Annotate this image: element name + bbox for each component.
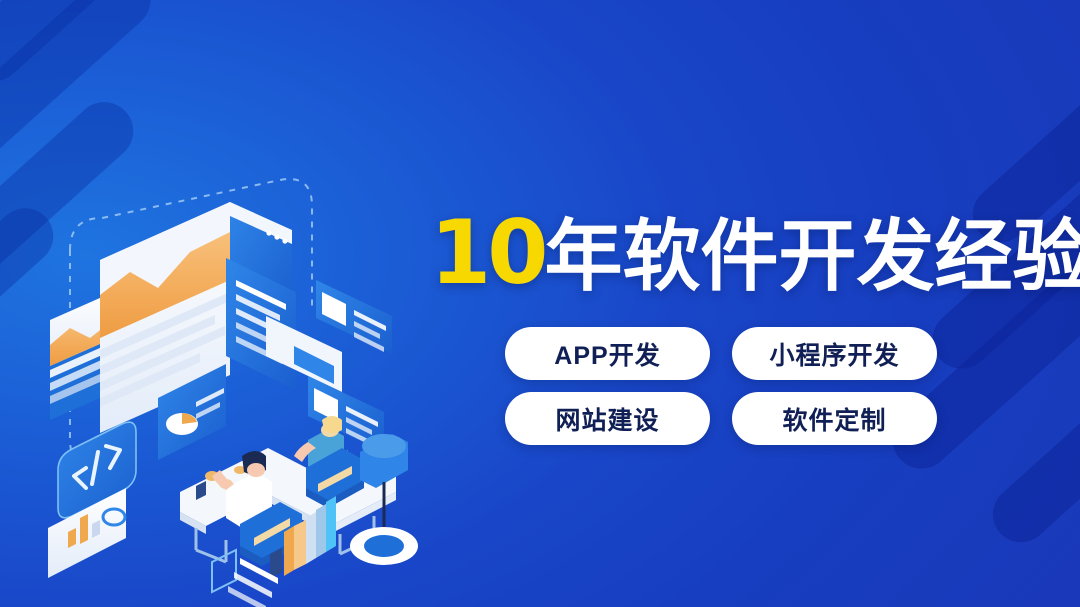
page-title: 10年软件开发经验	[430, 209, 1080, 297]
service-pill-miniprogram-development[interactable]: 小程序开发	[732, 327, 937, 380]
service-pill-app-development[interactable]: APP开发	[505, 327, 710, 380]
service-pill-group: APP开发 小程序开发 网站建设 软件定制	[505, 327, 937, 457]
service-pill-website-construction[interactable]: 网站建设	[505, 392, 710, 445]
deco-bar-left-1	[0, 0, 236, 94]
service-pill-software-customization[interactable]: 软件定制	[732, 392, 937, 445]
promo-banner: 10年软件开发经验 APP开发 小程序开发 网站建设 软件定制	[0, 0, 1080, 607]
service-pill-row-2: 网站建设 软件定制	[505, 392, 937, 445]
floating-message-card-1	[316, 280, 392, 354]
headline-number: 10	[430, 201, 544, 304]
service-pill-row-1: APP开发 小程序开发	[505, 327, 937, 380]
deco-bar-right-3	[981, 338, 1080, 554]
hero-illustration	[30, 140, 450, 540]
headline-text: 年软件开发经验	[544, 212, 1080, 300]
